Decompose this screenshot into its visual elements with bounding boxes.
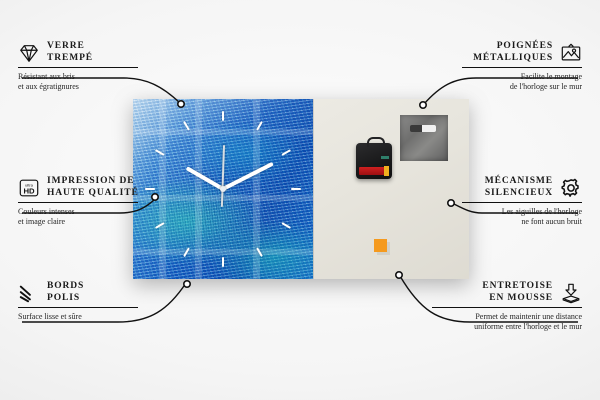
callout-title-line2: EN MOUSSE — [482, 293, 553, 305]
callout-divider — [18, 307, 138, 308]
clock-front-panel — [133, 99, 313, 279]
callout-desc-line2: et aux égratignures — [18, 82, 138, 92]
clock-center-pin — [220, 186, 226, 192]
clock-tick — [281, 149, 291, 156]
callout-divider — [18, 67, 138, 68]
callout-divider — [432, 307, 582, 308]
clock-tick — [155, 222, 165, 229]
callout-divider — [462, 67, 582, 68]
callout-desc-line1: Permet de maintenir une distance — [432, 312, 582, 322]
picture-frame-icon — [560, 42, 582, 64]
hanger-keyhole-icon — [410, 125, 436, 132]
callout-impression-haute-qualite[interactable]: ultra HD IMPRESSION DE HAUTE QUALITÉ Cou… — [18, 176, 138, 227]
mechanism-bail — [367, 137, 385, 147]
callout-entretoise-en-mousse[interactable]: ENTRETOISE EN MOUSSE Permet de maintenir… — [432, 281, 582, 332]
callout-desc-line2: de l'horloge sur le mur — [462, 82, 582, 92]
callout-header: POIGNÉES MÉTALLIQUES — [462, 41, 582, 64]
callout-title-line2: SILENCIEUX — [485, 188, 553, 200]
callout-mecanisme-silencieux[interactable]: MÉCANISME SILENCIEUX Les aiguilles de l'… — [462, 176, 582, 227]
callout-desc-line1: Couleurs intenses — [18, 207, 138, 217]
battery — [359, 167, 388, 175]
callout-poignees-metalliques[interactable]: POIGNÉES MÉTALLIQUES Facilite le montage… — [462, 41, 582, 92]
callout-title-line1: IMPRESSION DE — [47, 176, 139, 188]
ultra-hd-icon: ultra HD — [18, 177, 40, 199]
callout-title-line2: POLIS — [47, 293, 84, 305]
callout-desc-line1: Surface lisse et sûre — [18, 312, 138, 322]
metal-hanger-plate — [400, 115, 448, 161]
clock-tick — [256, 247, 263, 257]
callout-header: ultra HD IMPRESSION DE HAUTE QUALITÉ — [18, 176, 138, 199]
polished-edges-icon — [18, 282, 40, 304]
callout-title-line1: VERRE — [47, 41, 93, 53]
callout-title-line1: BORDS — [47, 281, 84, 293]
clock-mechanism-box — [356, 143, 392, 179]
callout-desc-line2: ne font aucun bruit — [462, 217, 582, 227]
callout-desc-line1: Les aiguilles de l'horloge — [462, 207, 582, 217]
ultra-hd-icon-bottom-text: HD — [23, 186, 35, 195]
product-image — [133, 99, 468, 279]
diamond-icon — [18, 42, 40, 64]
callout-header: BORDS POLIS — [18, 281, 138, 304]
infographic-canvas: VERRE TREMPÉ Résistant aux bris et aux é… — [0, 0, 600, 400]
callout-title-line2: MÉTALLIQUES — [473, 53, 553, 65]
callout-title-line2: HAUTE QUALITÉ — [47, 188, 139, 200]
foam-spacer-icon — [560, 282, 582, 304]
foam-spacer — [374, 239, 387, 252]
clock-tick — [256, 121, 263, 131]
callout-desc-line2: et image claire — [18, 217, 138, 227]
callout-header: MÉCANISME SILENCIEUX — [462, 176, 582, 199]
clock-tick — [145, 188, 155, 190]
clock-tick — [222, 257, 224, 267]
callout-divider — [462, 202, 582, 203]
clock-tick — [155, 149, 165, 156]
callout-header: VERRE TREMPÉ — [18, 41, 138, 64]
callout-title-line2: TREMPÉ — [47, 53, 93, 65]
callout-verre-trempe[interactable]: VERRE TREMPÉ Résistant aux bris et aux é… — [18, 41, 138, 92]
callout-title-line1: ENTRETOISE — [482, 281, 553, 293]
clock-tick — [222, 111, 224, 121]
callout-divider — [18, 202, 138, 203]
callout-title-line1: MÉCANISME — [485, 176, 553, 188]
callout-header: ENTRETOISE EN MOUSSE — [432, 281, 582, 304]
callout-desc-line1: Facilite le montage — [462, 72, 582, 82]
clock-tick — [183, 121, 190, 131]
mechanism-label — [381, 156, 389, 159]
clock-back-panel — [313, 99, 469, 279]
callout-desc-line1: Résistant aux bris — [18, 72, 138, 82]
gear-icon — [560, 177, 582, 199]
callout-title-line1: POIGNÉES — [473, 41, 553, 53]
callout-bords-polis[interactable]: BORDS POLIS Surface lisse et sûre — [18, 281, 138, 322]
clock-tick — [281, 222, 291, 229]
clock-tick — [291, 188, 301, 190]
callout-desc-line2: uniforme entre l'horloge et le mur — [432, 322, 582, 332]
clock-tick — [183, 247, 190, 257]
